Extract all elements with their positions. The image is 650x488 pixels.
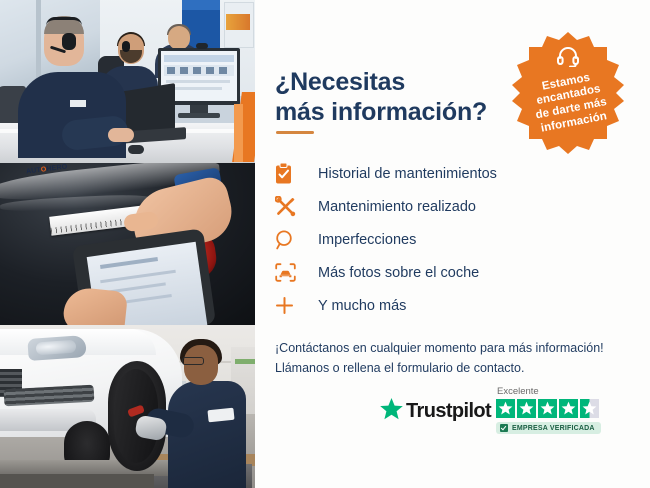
- agent-1-name-badge: [70, 100, 86, 107]
- monitor-ui-thumb: [167, 67, 175, 74]
- content-panel: ¿Necesitas más información? Estamos enca…: [255, 0, 650, 488]
- agent-1-hand: [108, 128, 134, 142]
- orange-divider-panel-2: [234, 104, 243, 162]
- ruler-brand-part1: AUT: [26, 166, 42, 175]
- monitor-ui-thumb: [193, 67, 201, 74]
- trustpilot-rating: Excelente: [496, 386, 601, 437]
- monitor-ui-header: [164, 55, 234, 62]
- agent-3-head: [168, 26, 190, 50]
- star-half: [580, 399, 599, 418]
- feature-list: Historial de mantenimientos Mantenimient…: [275, 157, 635, 322]
- mouse: [128, 145, 144, 154]
- page-title-line-2: más información?: [275, 97, 525, 128]
- feature-label: Y mucho más: [318, 298, 406, 314]
- feature-item-much-more: Y mucho más: [275, 289, 635, 322]
- star-filled: [559, 399, 578, 418]
- monitor-ui-thumb: [206, 67, 214, 74]
- workshop-lift-photo: [0, 325, 255, 488]
- feature-label: Imperfecciones: [318, 232, 416, 248]
- headset-icon: [556, 45, 580, 67]
- agent-2-headset-earcup: [122, 41, 130, 52]
- monitor-ui-line: [166, 80, 230, 83]
- call-center-agents-photo: [0, 0, 255, 163]
- clipboard-check-icon: [275, 162, 303, 186]
- trustpilot-widget[interactable]: Trustpilot Excelente: [380, 386, 630, 448]
- star-filled: [538, 399, 557, 418]
- support-badge: Estamos encantados de darte más informac…: [506, 30, 630, 154]
- trustpilot-rating-label: Excelente: [497, 386, 601, 397]
- feature-label: Mantenimiento realizado: [318, 199, 476, 215]
- monitor-ui-thumb: [219, 67, 227, 74]
- contact-line-1: ¡Contáctanos en cualquier momento para m…: [275, 338, 643, 358]
- page-title-line-1: ¿Necesitas: [275, 67, 525, 98]
- page-title: ¿Necesitas más información?: [275, 67, 525, 128]
- lift-base: [0, 474, 154, 488]
- feature-item-maintenance-done: Mantenimiento realizado: [275, 190, 635, 223]
- technician-safety-glasses: [182, 357, 204, 365]
- star-filled: [496, 399, 515, 418]
- vehicle-inspection-photo: AUTOHERO: [0, 163, 255, 326]
- feature-item-imperfections: Imperfecciones: [275, 223, 635, 256]
- technician-head: [184, 345, 218, 385]
- trustpilot-wordmark: Trustpilot: [406, 400, 491, 423]
- infographic-root: AUTOHERO: [0, 0, 650, 488]
- trustpilot-logo[interactable]: Trustpilot: [380, 398, 491, 425]
- feature-label: Historial de mantenimientos: [318, 166, 497, 182]
- agent-1-headset-band: [46, 17, 82, 26]
- verified-company-badge: EMPRESA VERIFICADA: [496, 422, 601, 434]
- agent-1-headset-earcup: [62, 33, 76, 50]
- wrench-screwdriver-icon: [275, 195, 303, 219]
- wall-poster-image: [226, 14, 250, 30]
- shelf-green-item: [235, 359, 255, 364]
- blue-wall-panel-top: [182, 0, 220, 10]
- contact-text: ¡Contáctanos en cualquier momento para m…: [275, 338, 643, 379]
- photo-column: AUTOHERO: [0, 0, 255, 488]
- feature-label: Más fotos sobre el coche: [318, 265, 479, 281]
- verified-company-label: EMPRESA VERIFICADA: [512, 425, 595, 432]
- monitor-ui-thumb: [180, 67, 188, 74]
- feature-item-maintenance-history: Historial de mantenimientos: [275, 157, 635, 190]
- title-divider: [276, 131, 314, 134]
- monitor-base: [178, 113, 220, 118]
- contact-line-2: Llámanos o rellena el formulario de cont…: [275, 358, 643, 378]
- trustpilot-star-icon: [380, 398, 403, 425]
- webcam: [196, 43, 208, 49]
- verified-check-icon: [500, 424, 508, 432]
- star-filled: [517, 399, 536, 418]
- trustpilot-stars: [496, 399, 601, 418]
- feature-item-more-photos: Más fotos sobre el coche: [275, 256, 635, 289]
- magnifier-icon: [275, 228, 303, 252]
- car-photo-frame-icon: [275, 261, 303, 285]
- plus-icon: [275, 294, 303, 318]
